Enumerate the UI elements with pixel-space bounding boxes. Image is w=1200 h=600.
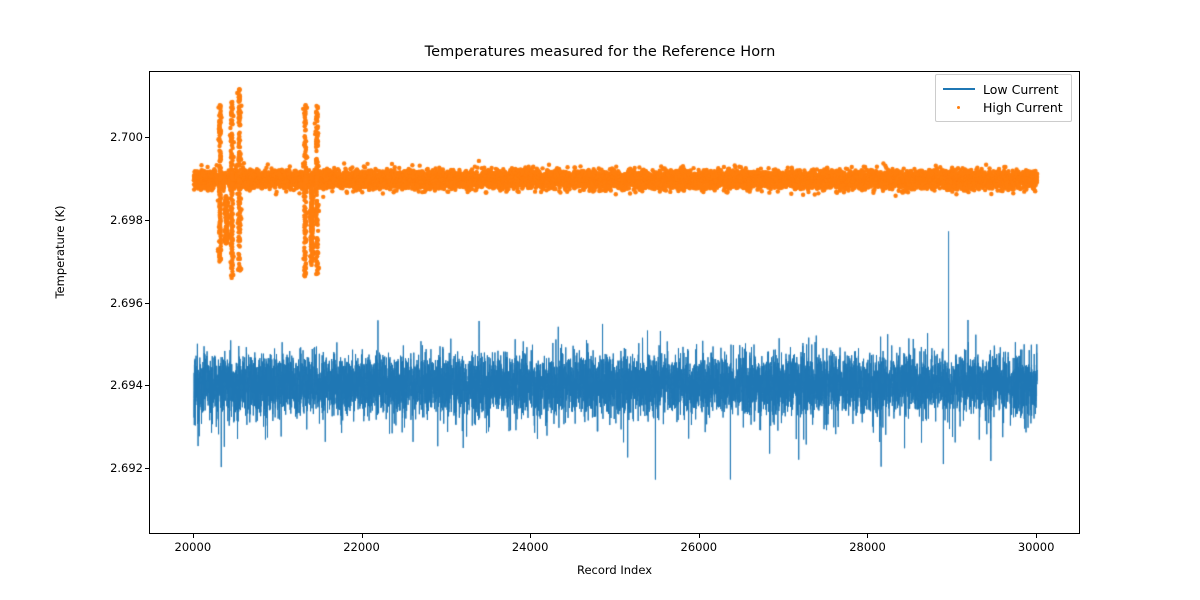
- legend-label-low-current: Low Current: [983, 82, 1059, 97]
- x-tick-mark: [530, 534, 531, 538]
- x-tick-mark: [699, 534, 700, 538]
- chart-legend: Low Current High Current: [935, 74, 1072, 122]
- x-tick-label: 24000: [512, 540, 549, 554]
- legend-item-high-current: High Current: [942, 98, 1063, 116]
- y-tick-label: 2.694: [110, 378, 143, 392]
- y-tick-label: 2.700: [110, 130, 143, 144]
- x-tick-label: 30000: [1018, 540, 1055, 554]
- x-tick-label: 20000: [175, 540, 212, 554]
- y-tick-label: 2.692: [110, 461, 143, 475]
- x-tick-mark: [362, 534, 363, 538]
- y-tick-mark: [145, 220, 149, 221]
- matplotlib-figure: Temperatures measured for the Reference …: [0, 0, 1200, 600]
- y-tick-mark: [145, 303, 149, 304]
- x-tick-mark: [1036, 534, 1037, 538]
- legend-label-high-current: High Current: [983, 100, 1063, 115]
- x-tick-label: 28000: [849, 540, 886, 554]
- y-axis-label: Temperature (K): [53, 152, 67, 352]
- y-tick-mark: [145, 468, 149, 469]
- legend-line-icon: [942, 82, 976, 96]
- x-axis-label: Record Index: [149, 563, 1080, 577]
- y-tick-label: 2.698: [110, 213, 143, 227]
- plot-axes-area: [149, 71, 1080, 534]
- plot-data-canvas: [150, 72, 1080, 534]
- x-tick-label: 26000: [681, 540, 718, 554]
- y-tick-mark: [145, 385, 149, 386]
- x-tick-mark: [193, 534, 194, 538]
- legend-item-low-current: Low Current: [942, 80, 1063, 98]
- x-tick-mark: [867, 534, 868, 538]
- y-tick-label: 2.696: [110, 296, 143, 310]
- legend-dot-icon: [942, 100, 976, 114]
- x-tick-label: 22000: [343, 540, 380, 554]
- y-tick-mark: [145, 137, 149, 138]
- chart-title: Temperatures measured for the Reference …: [0, 44, 1200, 60]
